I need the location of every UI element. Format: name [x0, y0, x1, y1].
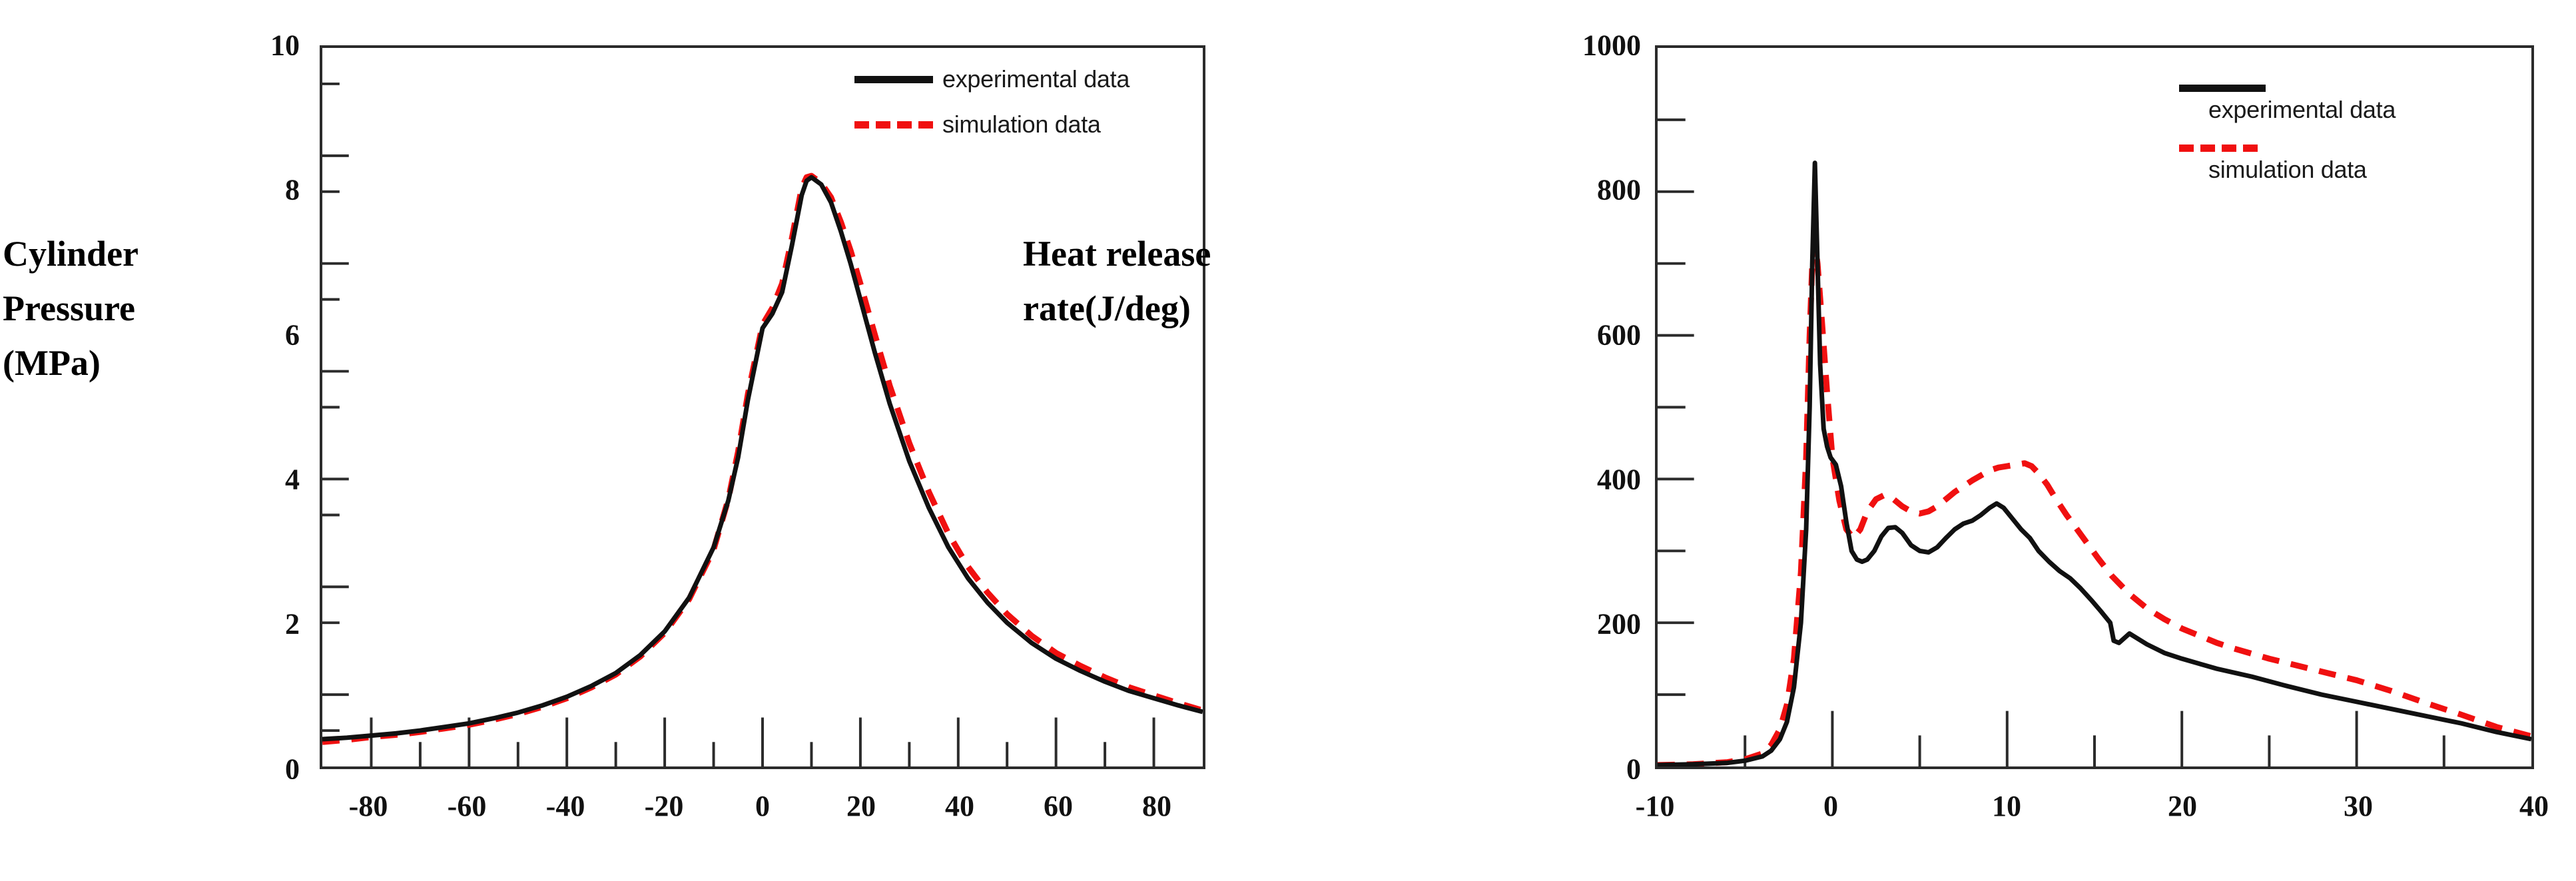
- figure-root: Cylinder Pressure (MPa) 0 2 4 6 8 10: [0, 0, 2576, 881]
- left-xtick--40: -40: [546, 789, 585, 823]
- right-axis-title: Heat release rate(J/deg): [1023, 226, 1211, 336]
- dashed-line-swatch-icon: [854, 121, 933, 129]
- right-xtick-0: 0: [1823, 789, 1838, 823]
- right-xtick-10: 10: [1992, 789, 2021, 823]
- right-plot-area: [1655, 45, 2534, 769]
- left-axis-title-line-3: (MPa): [3, 336, 139, 390]
- panel-heat-release-rate: Heat release rate(J/deg) 0 200 400 600 8…: [1288, 0, 2576, 881]
- left-legend-label-experimental: experimental data: [942, 65, 1129, 93]
- left-axis-title-line-1: Cylinder: [3, 226, 139, 281]
- left-xtick-40: 40: [945, 789, 974, 823]
- left-axis-title-line-2: Pressure: [3, 281, 139, 336]
- left-legend: experimental data simulation data: [854, 64, 1129, 140]
- left-ytick-6: 6: [220, 318, 300, 352]
- right-ytick-400: 400: [1471, 463, 1641, 497]
- right-ticks-x: [1745, 711, 2444, 766]
- left-ytick-0: 0: [220, 752, 300, 786]
- right-ytick-800: 800: [1471, 173, 1641, 207]
- right-axis-title-line-1: Heat release: [1023, 226, 1211, 281]
- left-ytick-4: 4: [220, 463, 300, 497]
- left-xtick-60: 60: [1044, 789, 1073, 823]
- solid-line-swatch-icon: [2179, 85, 2266, 92]
- panel-cylinder-pressure: Cylinder Pressure (MPa) 0 2 4 6 8 10: [0, 0, 1288, 881]
- left-ticks-x: [371, 718, 1153, 766]
- right-legend-label-experimental: experimental data: [2174, 96, 2396, 124]
- right-xtick--10: -10: [1636, 789, 1675, 823]
- left-ytick-8: 8: [220, 173, 300, 207]
- right-ytick-600: 600: [1471, 318, 1641, 352]
- solid-line-swatch-icon: [854, 76, 933, 83]
- right-xtick-30: 30: [2344, 789, 2373, 823]
- left-xtick-20: 20: [846, 789, 876, 823]
- left-ytick-2: 2: [220, 607, 300, 641]
- right-legend-item-simulation: simulation data: [2174, 140, 2396, 184]
- left-legend-label-simulation: simulation data: [942, 111, 1101, 139]
- right-series-simulation-data: [1658, 243, 2531, 764]
- right-legend-label-simulation: simulation data: [2174, 156, 2396, 184]
- left-xtick-80: 80: [1142, 789, 1171, 823]
- right-xtick-40: 40: [2519, 789, 2549, 823]
- left-plot-svg: [322, 48, 1203, 766]
- left-plot-area: [320, 45, 1205, 769]
- left-axis-title: Cylinder Pressure (MPa): [3, 226, 139, 390]
- left-xtick--20: -20: [645, 789, 684, 823]
- left-legend-item-simulation: simulation data: [854, 109, 1129, 140]
- left-xtick-0: 0: [755, 789, 770, 823]
- right-plot-svg: [1658, 48, 2531, 766]
- right-legend: experimental data simulation data: [2174, 80, 2396, 188]
- right-axis-title-line-2: rate(J/deg): [1023, 281, 1211, 336]
- right-ytick-1000: 1000: [1471, 29, 1641, 63]
- left-xtick--80: -80: [349, 789, 388, 823]
- left-ytick-10: 10: [220, 29, 300, 63]
- left-legend-item-experimental: experimental data: [854, 64, 1129, 95]
- right-minor-ticks-y: [1658, 120, 1694, 695]
- right-ytick-200: 200: [1471, 607, 1641, 641]
- right-ytick-0: 0: [1471, 752, 1641, 786]
- right-legend-item-experimental: experimental data: [2174, 80, 2396, 124]
- dashed-line-swatch-icon: [2179, 145, 2258, 152]
- right-legend-swatch-experimental: [2174, 80, 2396, 96]
- left-xtick--60: -60: [448, 789, 487, 823]
- right-legend-swatch-simulation: [2174, 140, 2396, 156]
- left-minor-ticks-y: [322, 84, 349, 731]
- right-xtick-20: 20: [2168, 789, 2197, 823]
